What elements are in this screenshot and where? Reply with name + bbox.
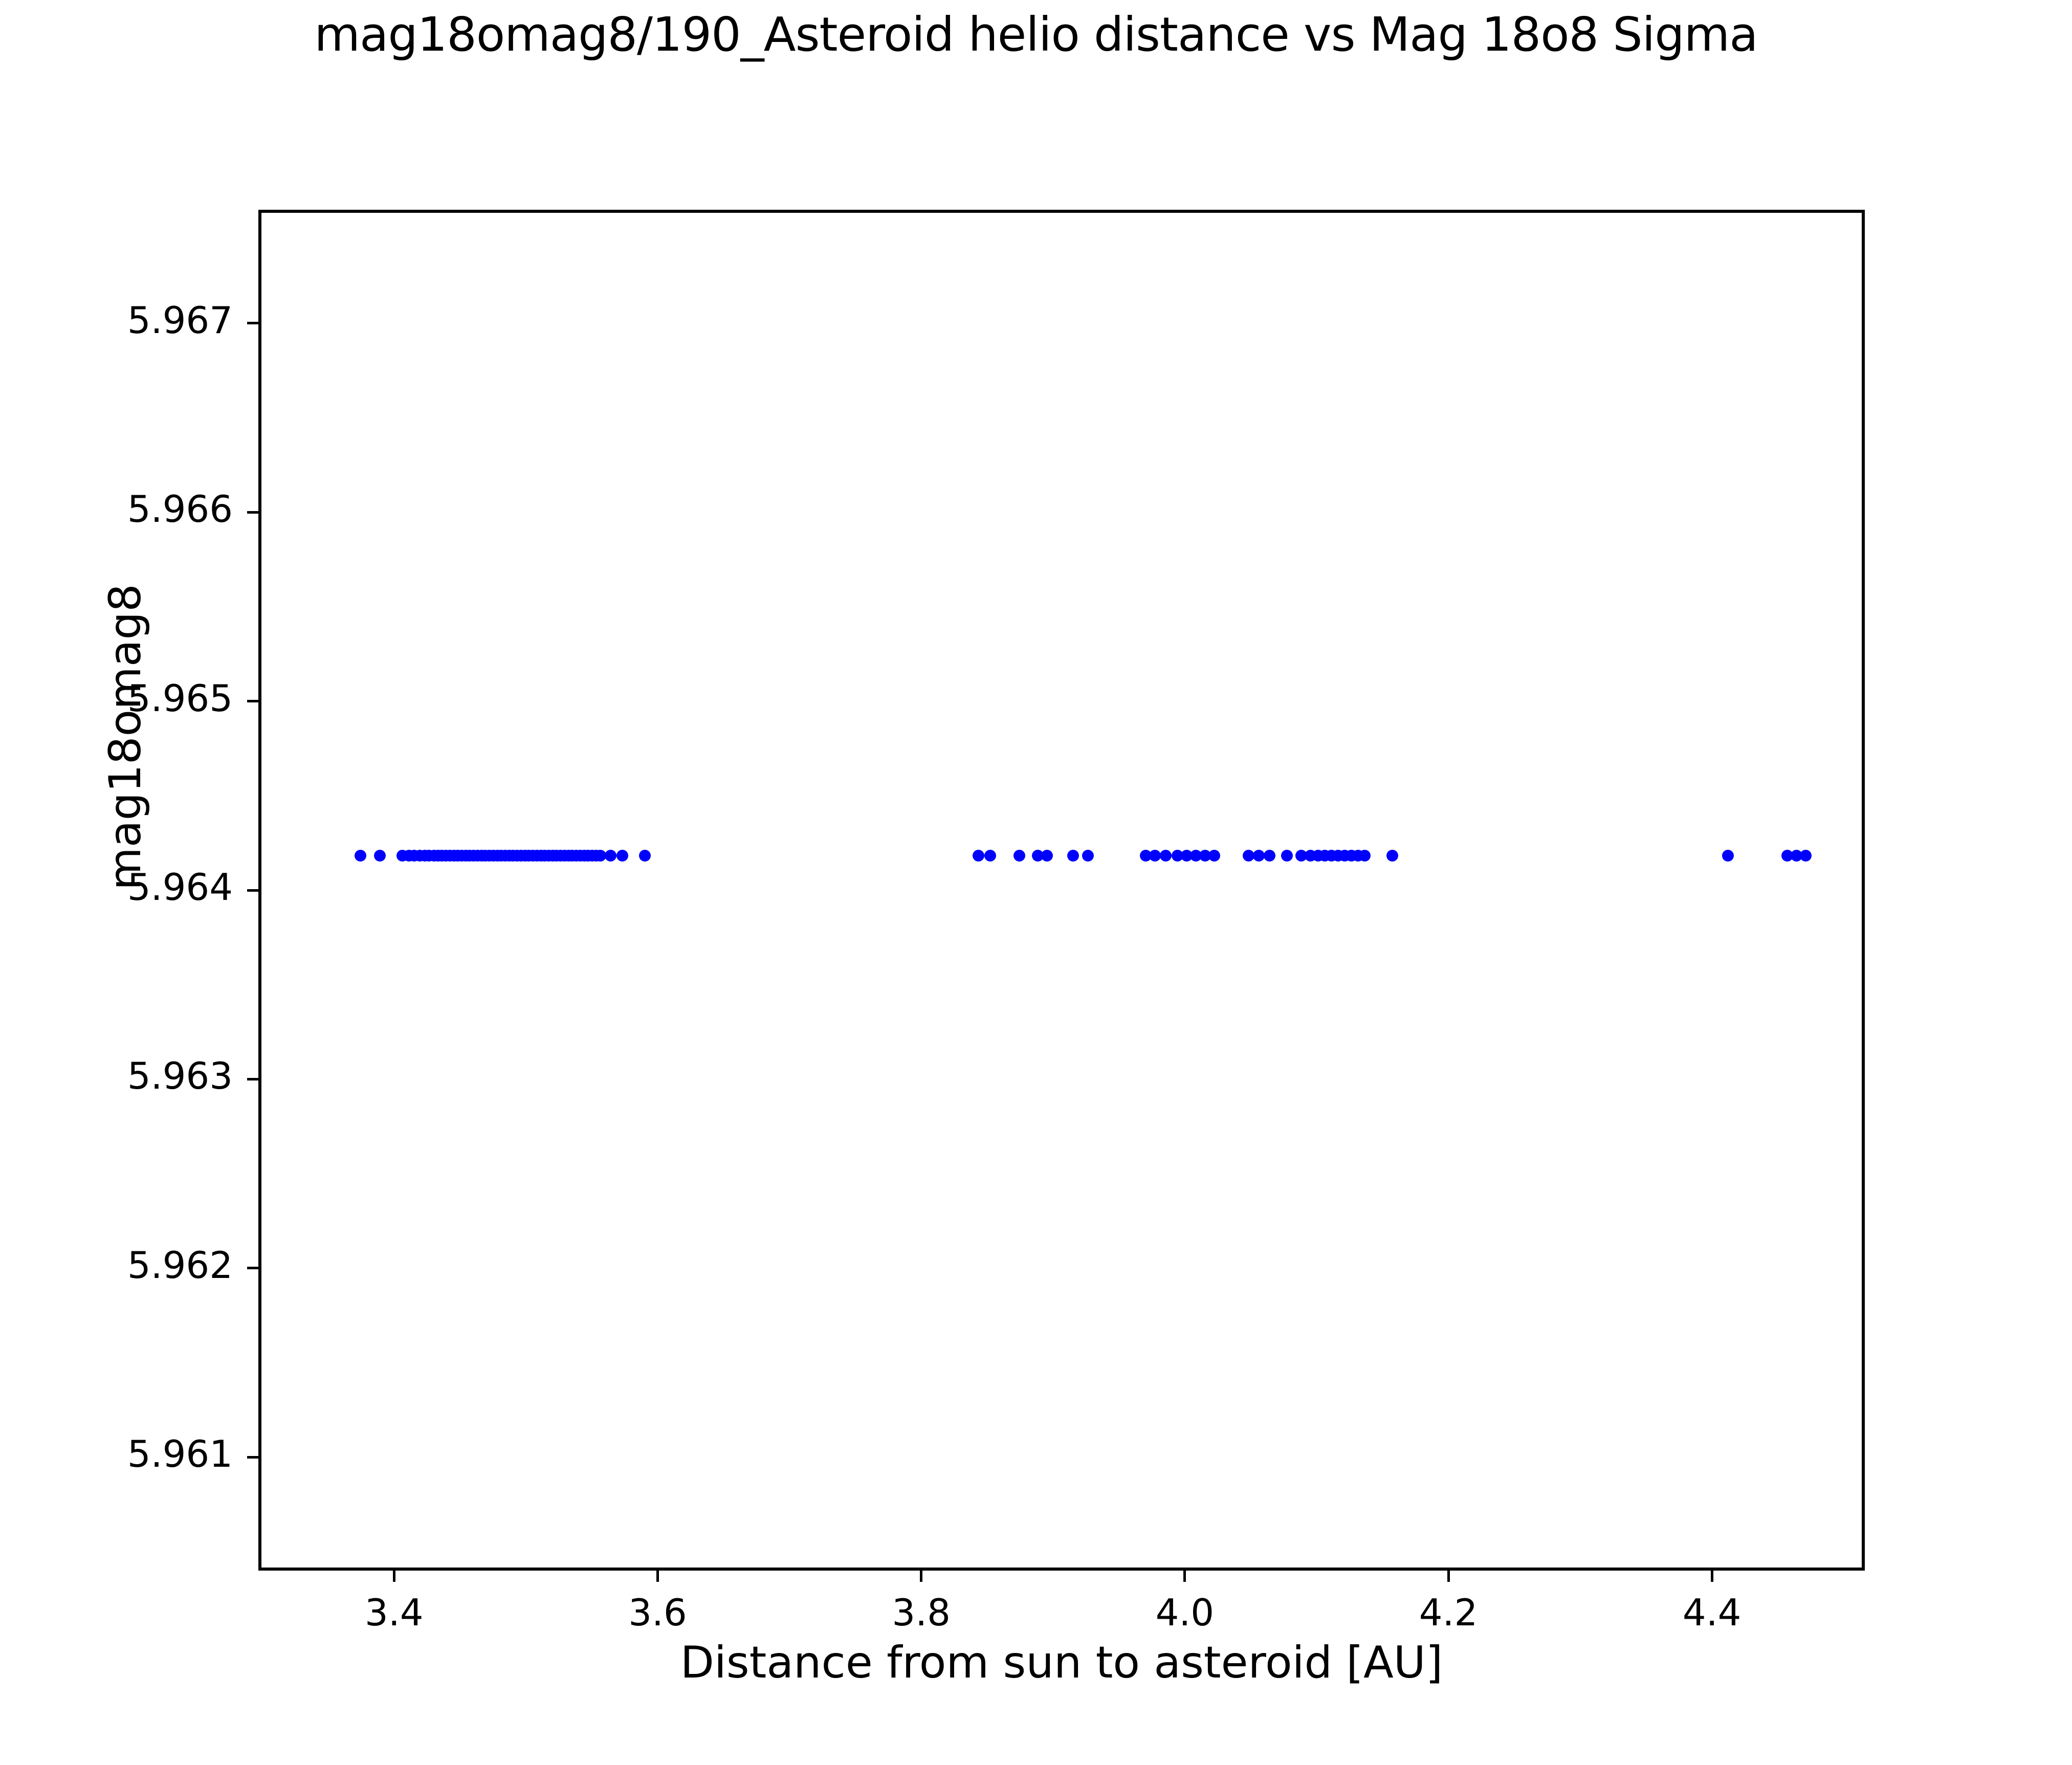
plot-area bbox=[258, 210, 1865, 1571]
x-tick-mark bbox=[920, 1571, 922, 1582]
data-point bbox=[984, 850, 996, 862]
data-point bbox=[1264, 850, 1275, 862]
y-tick-label: 5.966 bbox=[13, 488, 233, 531]
y-tick-mark bbox=[247, 322, 258, 324]
x-tick-mark bbox=[656, 1571, 659, 1582]
data-point bbox=[1281, 850, 1293, 862]
x-axis-label: Distance from sun to asteroid [AU] bbox=[258, 1637, 1865, 1688]
data-point bbox=[616, 850, 628, 862]
y-tick-mark bbox=[247, 889, 258, 892]
data-point bbox=[1149, 850, 1161, 862]
data-point bbox=[1243, 850, 1254, 862]
data-point bbox=[1160, 850, 1172, 862]
x-tick-label: 4.2 bbox=[1372, 1591, 1525, 1634]
x-tick-mark bbox=[1183, 1571, 1186, 1582]
data-point bbox=[594, 850, 606, 862]
data-point bbox=[1253, 850, 1265, 862]
y-tick-label: 5.967 bbox=[13, 299, 233, 342]
y-tick-mark bbox=[247, 700, 258, 702]
data-point bbox=[1386, 850, 1398, 862]
y-tick-mark bbox=[247, 511, 258, 514]
scatter-series-layer bbox=[261, 213, 1862, 1568]
y-tick-label: 5.961 bbox=[13, 1432, 233, 1475]
x-tick-label: 4.4 bbox=[1635, 1591, 1789, 1634]
chart-title: mag18omag8/190_Asteroid helio distance v… bbox=[0, 0, 2072, 58]
y-tick-mark bbox=[247, 1078, 258, 1080]
data-point bbox=[605, 850, 616, 862]
data-point bbox=[1067, 850, 1079, 862]
x-tick-label: 4.0 bbox=[1108, 1591, 1262, 1634]
data-point bbox=[1208, 850, 1220, 862]
data-point bbox=[1041, 850, 1053, 862]
data-point bbox=[355, 850, 366, 862]
x-tick-label: 3.8 bbox=[845, 1591, 998, 1634]
x-tick-mark bbox=[393, 1571, 395, 1582]
y-tick-label: 5.962 bbox=[13, 1244, 233, 1287]
data-point bbox=[639, 850, 651, 862]
y-tick-mark bbox=[247, 1267, 258, 1269]
y-tick-label: 5.963 bbox=[13, 1054, 233, 1097]
y-tick-mark bbox=[247, 1456, 258, 1459]
data-point bbox=[1082, 850, 1094, 862]
x-tick-label: 3.4 bbox=[317, 1591, 471, 1634]
data-point bbox=[1800, 850, 1812, 862]
chart-page: mag18omag8/190_Asteroid helio distance v… bbox=[0, 0, 2072, 1765]
y-axis-label: mag18omag8 bbox=[100, 584, 151, 890]
data-point bbox=[374, 850, 386, 862]
data-point bbox=[1013, 850, 1025, 862]
x-tick-label: 3.6 bbox=[581, 1591, 734, 1634]
x-tick-mark bbox=[1711, 1571, 1713, 1582]
data-point bbox=[1359, 850, 1371, 862]
data-point bbox=[1722, 850, 1734, 862]
data-point bbox=[973, 850, 984, 862]
x-tick-mark bbox=[1447, 1571, 1450, 1582]
